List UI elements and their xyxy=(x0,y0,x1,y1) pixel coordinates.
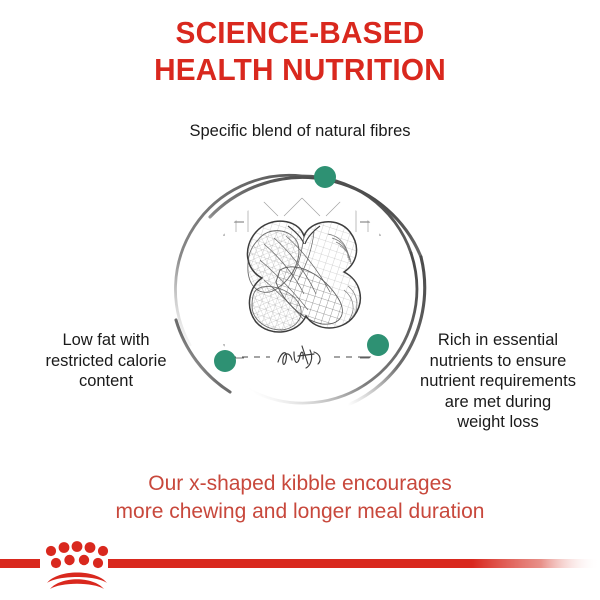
kibble-statement-line-1: Our x-shaped kibble encourages xyxy=(0,470,600,498)
footer-bar-right xyxy=(108,559,600,568)
kibble-statement-line-2: more chewing and longer meal duration xyxy=(0,498,600,526)
designer-signature xyxy=(278,346,320,368)
royal-canin-crown-icon xyxy=(46,541,108,589)
label-rich-nutrients-line-2: nutrients to ensure xyxy=(400,351,596,372)
kibble-statement: Our x-shaped kibble encourages more chew… xyxy=(0,470,600,526)
dot-right xyxy=(367,334,389,356)
dot-top xyxy=(314,166,336,188)
label-low-fat-line-3: content xyxy=(8,371,204,392)
footer-bar-left xyxy=(0,559,40,568)
brand-footer xyxy=(0,538,600,600)
label-rich-nutrients-line-5: weight loss xyxy=(400,412,596,433)
label-low-fat-line-1: Low fat with xyxy=(8,330,204,351)
page-title: SCIENCE-BASED HEALTH NUTRITION xyxy=(0,14,600,88)
kibble-sketch-icon xyxy=(214,198,390,368)
page-title-line-2: HEALTH NUTRITION xyxy=(12,51,588,88)
label-rich-nutrients-line-1: Rich in essential xyxy=(400,330,596,351)
label-rich-nutrients-line-3: nutrient requirements xyxy=(400,371,596,392)
label-rich-nutrients: Rich in essential nutrients to ensure nu… xyxy=(400,330,596,433)
page-title-line-1: SCIENCE-BASED xyxy=(12,14,588,51)
dot-left xyxy=(214,350,236,372)
label-low-fat: Low fat with restricted calorie content xyxy=(8,330,204,392)
feature-panel: SCIENCE-BASED HEALTH NUTRITION Specific … xyxy=(0,0,600,600)
subtitle-natural-fibres: Specific blend of natural fibres xyxy=(0,121,600,141)
label-rich-nutrients-line-4: are met during xyxy=(400,392,596,413)
dimension-line xyxy=(226,352,378,362)
label-low-fat-line-2: restricted calorie xyxy=(8,351,204,372)
